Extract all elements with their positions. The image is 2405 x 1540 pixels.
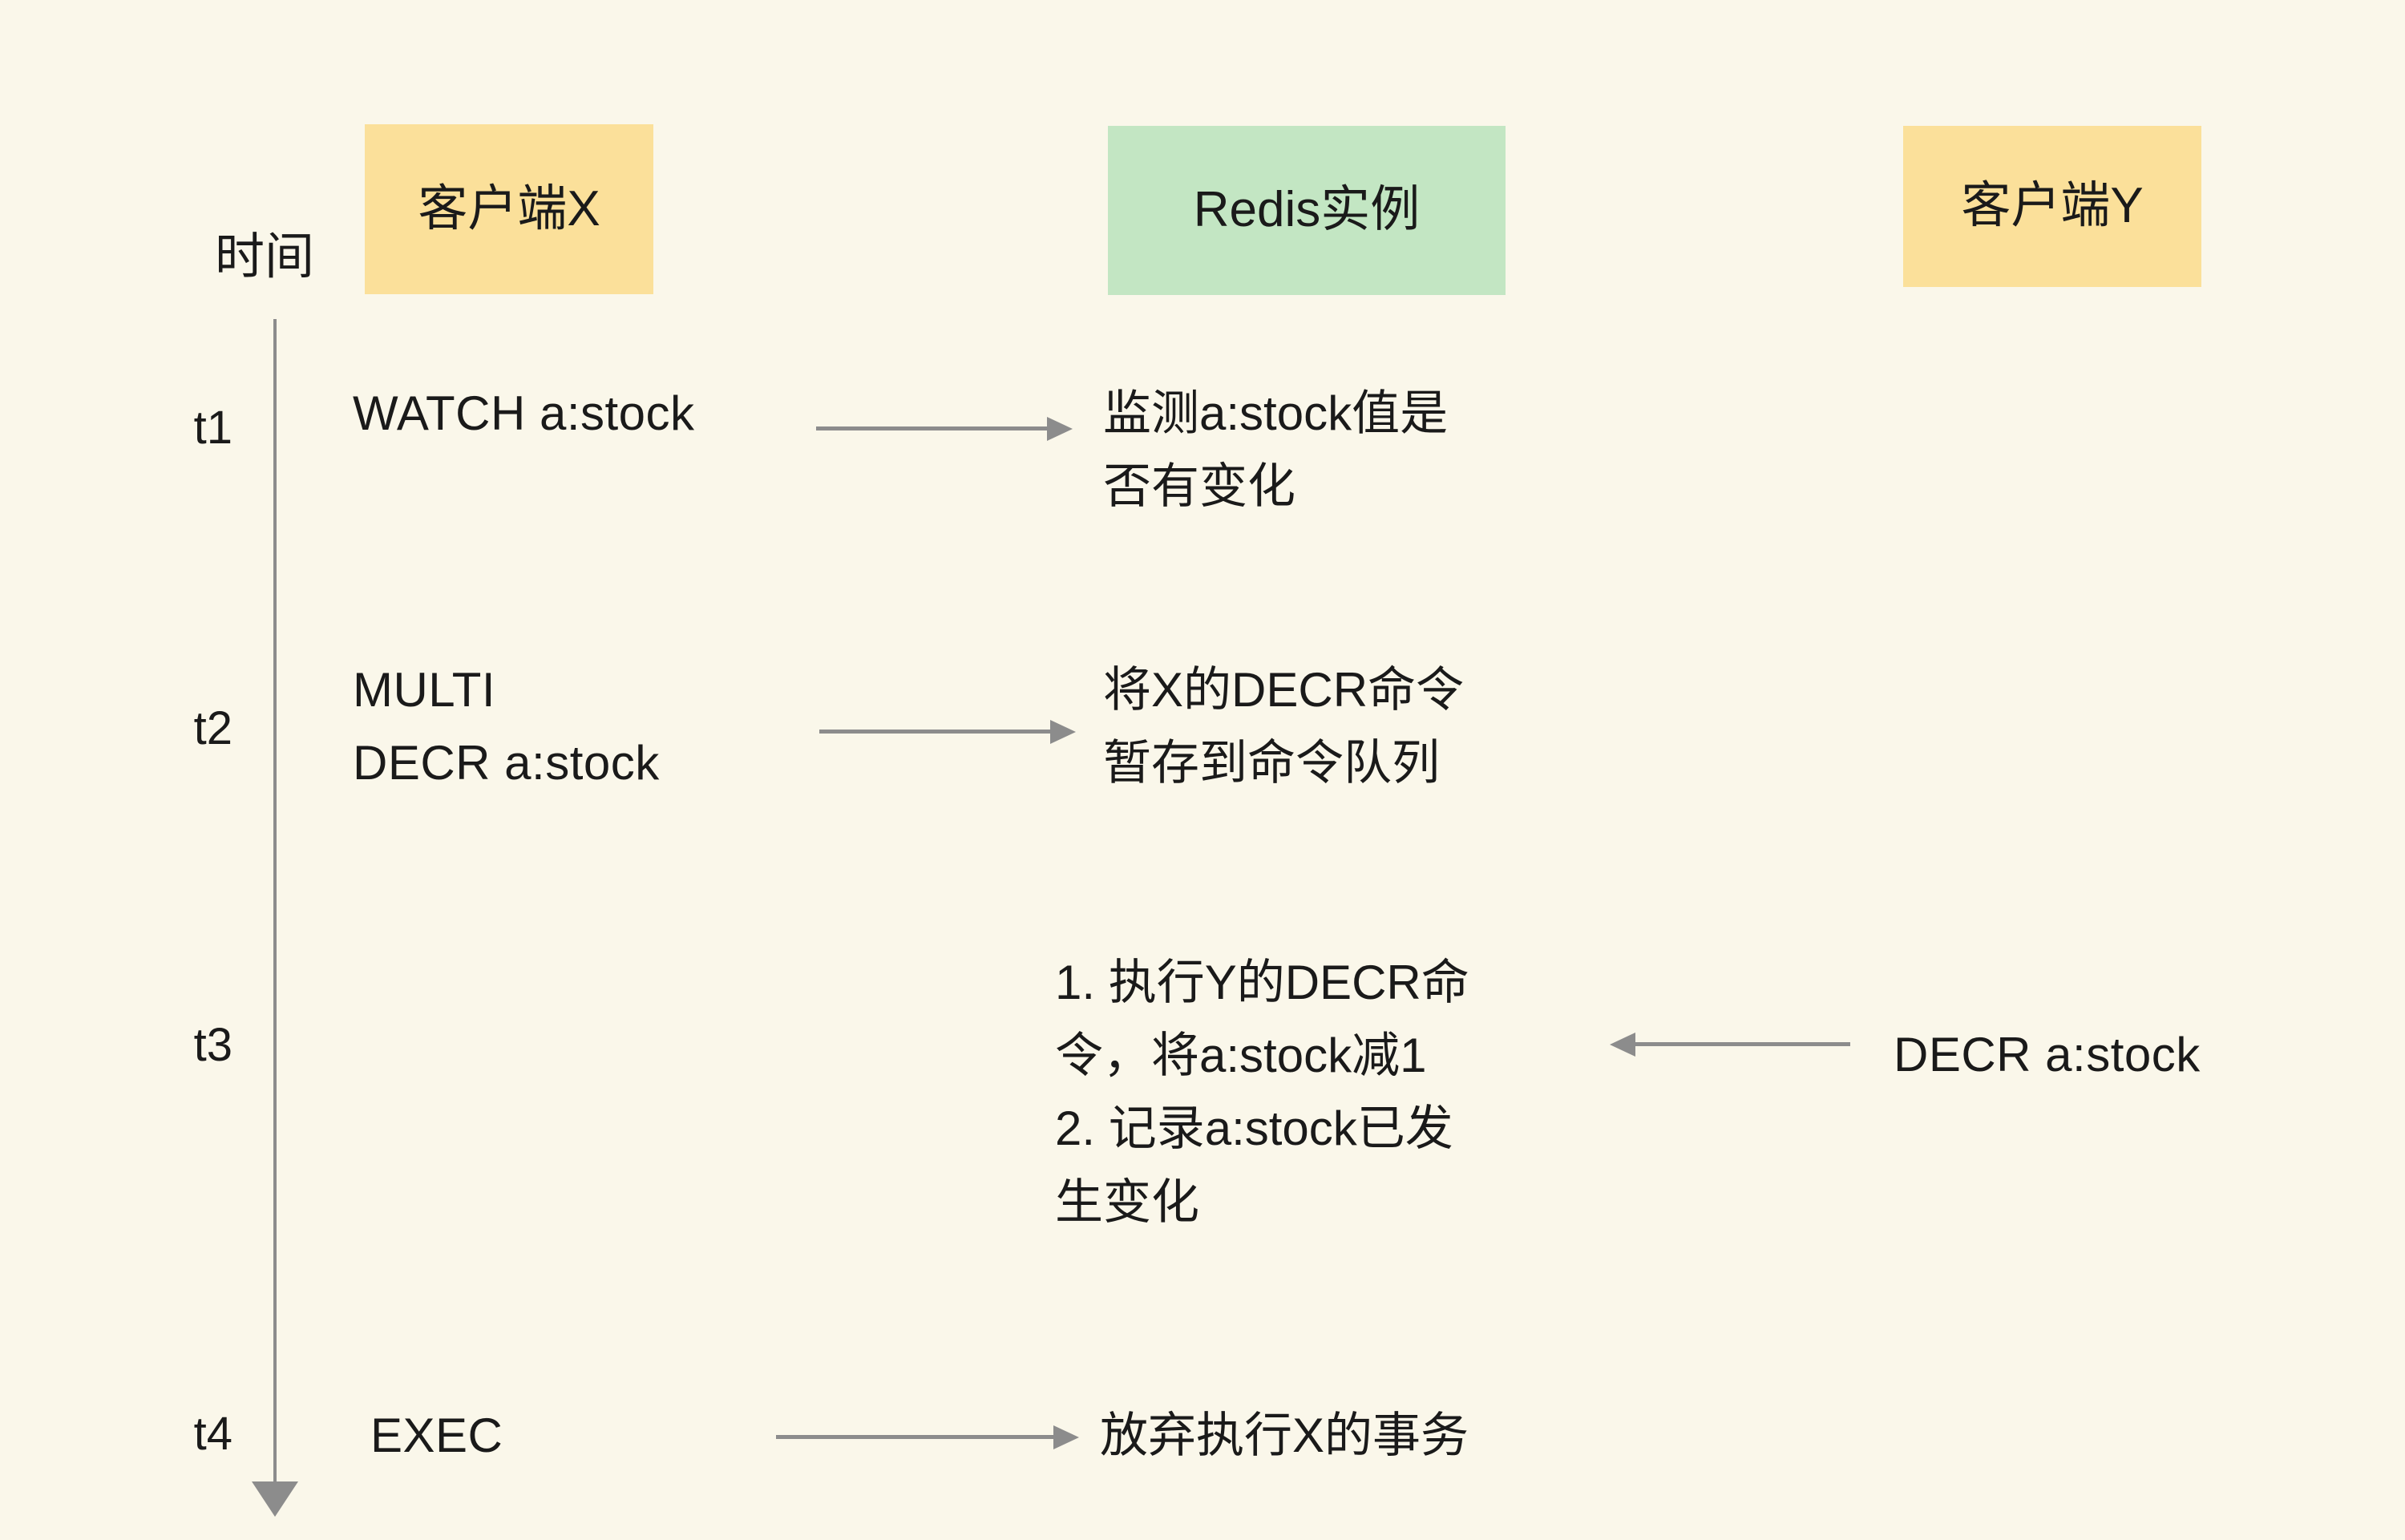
message-t4-client-x: EXEC xyxy=(370,1399,503,1472)
arrow-t1-client-x-to-redis xyxy=(816,410,1073,446)
sequence-diagram-canvas: 客户端X Redis实例 客户端Y 时间 t1 t2 t3 t4 WATCH a… xyxy=(0,0,2405,1540)
message-t3-client-y: DECR a:stock xyxy=(1894,1018,2201,1091)
time-tick-t2: t2 xyxy=(144,705,232,752)
time-axis-arrowhead-icon xyxy=(252,1481,298,1517)
time-axis-line xyxy=(273,319,277,1491)
time-tick-t3: t3 xyxy=(144,1022,232,1069)
lane-header-client-x-label: 客户端X xyxy=(418,182,600,236)
lane-header-client-y-label: 客户端Y xyxy=(1961,179,2143,233)
arrow-t3-client-y-to-redis xyxy=(1610,1026,1850,1061)
arrow-t4-client-x-to-redis xyxy=(776,1419,1081,1454)
time-tick-t4: t4 xyxy=(144,1411,232,1457)
lane-header-client-x: 客户端X xyxy=(365,124,653,294)
message-t4-redis: 放弃执行X的事务 xyxy=(1100,1399,1469,1472)
message-t2-redis: 将X的DECR命令 暂存到命令队列 xyxy=(1103,653,1600,799)
lane-header-client-y: 客户端Y xyxy=(1903,126,2201,287)
message-t1-redis: 监测a:stock值是 否有变化 xyxy=(1103,377,1600,523)
arrowhead-right-icon xyxy=(1053,1425,1079,1449)
arrowhead-right-icon xyxy=(1047,417,1073,441)
time-axis-label: 时间 xyxy=(215,232,314,282)
message-t3-redis: 1. 执行Y的DECR命 令，将a:stock减1 2. 记录a:stock已发… xyxy=(1055,946,1616,1239)
arrow-t2-client-x-to-redis xyxy=(819,713,1076,749)
message-t1-client-x: WATCH a:stock xyxy=(353,377,695,450)
time-tick-t1: t1 xyxy=(144,405,232,451)
arrow-shaft xyxy=(816,426,1049,430)
lane-header-redis-label: Redis实例 xyxy=(1194,183,1421,237)
arrow-shaft xyxy=(819,730,1052,734)
arrowhead-right-icon xyxy=(1050,720,1076,744)
arrowhead-left-icon xyxy=(1610,1033,1635,1057)
arrow-shaft xyxy=(1634,1042,1850,1046)
arrow-shaft xyxy=(776,1435,1055,1439)
message-t2-client-x: MULTI DECR a:stock xyxy=(353,653,660,799)
lane-header-redis: Redis实例 xyxy=(1108,126,1506,295)
